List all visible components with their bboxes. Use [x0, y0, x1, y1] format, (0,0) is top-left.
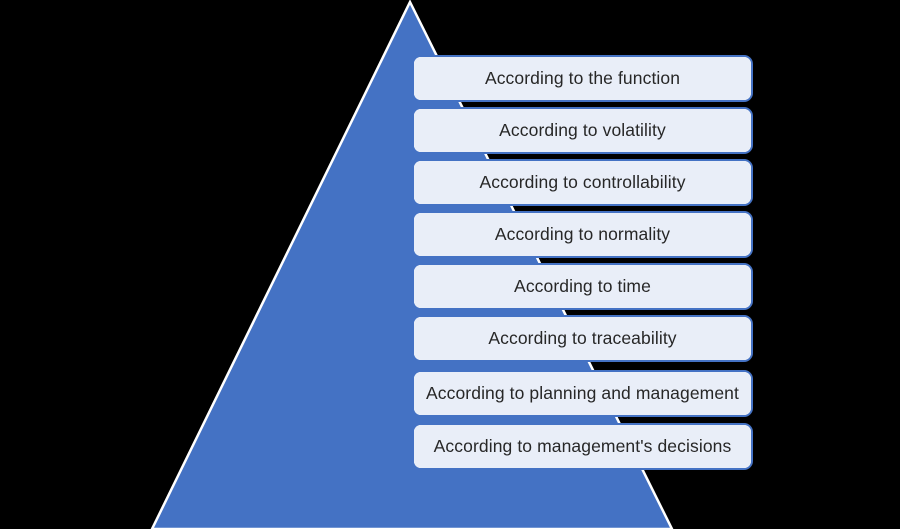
- pyramid-row-7-label: According to planning and management: [426, 385, 739, 403]
- pyramid-row-8[interactable]: According to management's decisions: [412, 423, 753, 470]
- pyramid-row-1-label: According to the function: [485, 70, 680, 88]
- pyramid-row-8-label: According to management's decisions: [434, 438, 732, 456]
- pyramid-row-1[interactable]: According to the function: [412, 55, 753, 102]
- pyramid-row-5-label: According to time: [514, 278, 651, 296]
- pyramid-row-6[interactable]: According to traceability: [412, 315, 753, 362]
- pyramid-row-4[interactable]: According to normality: [412, 211, 753, 258]
- pyramid-row-7[interactable]: According to planning and management: [412, 370, 753, 417]
- pyramid-row-2[interactable]: According to volatility: [412, 107, 753, 154]
- pyramid-row-3[interactable]: According to controllability: [412, 159, 753, 206]
- pyramid-row-3-label: According to controllability: [479, 174, 685, 192]
- diagram-canvas: According to the function According to v…: [0, 0, 900, 529]
- pyramid-row-4-label: According to normality: [495, 226, 670, 244]
- pyramid-label-boxes: According to the function According to v…: [0, 0, 900, 529]
- pyramid-row-2-label: According to volatility: [499, 122, 666, 140]
- pyramid-row-5[interactable]: According to time: [412, 263, 753, 310]
- pyramid-row-6-label: According to traceability: [488, 330, 676, 348]
